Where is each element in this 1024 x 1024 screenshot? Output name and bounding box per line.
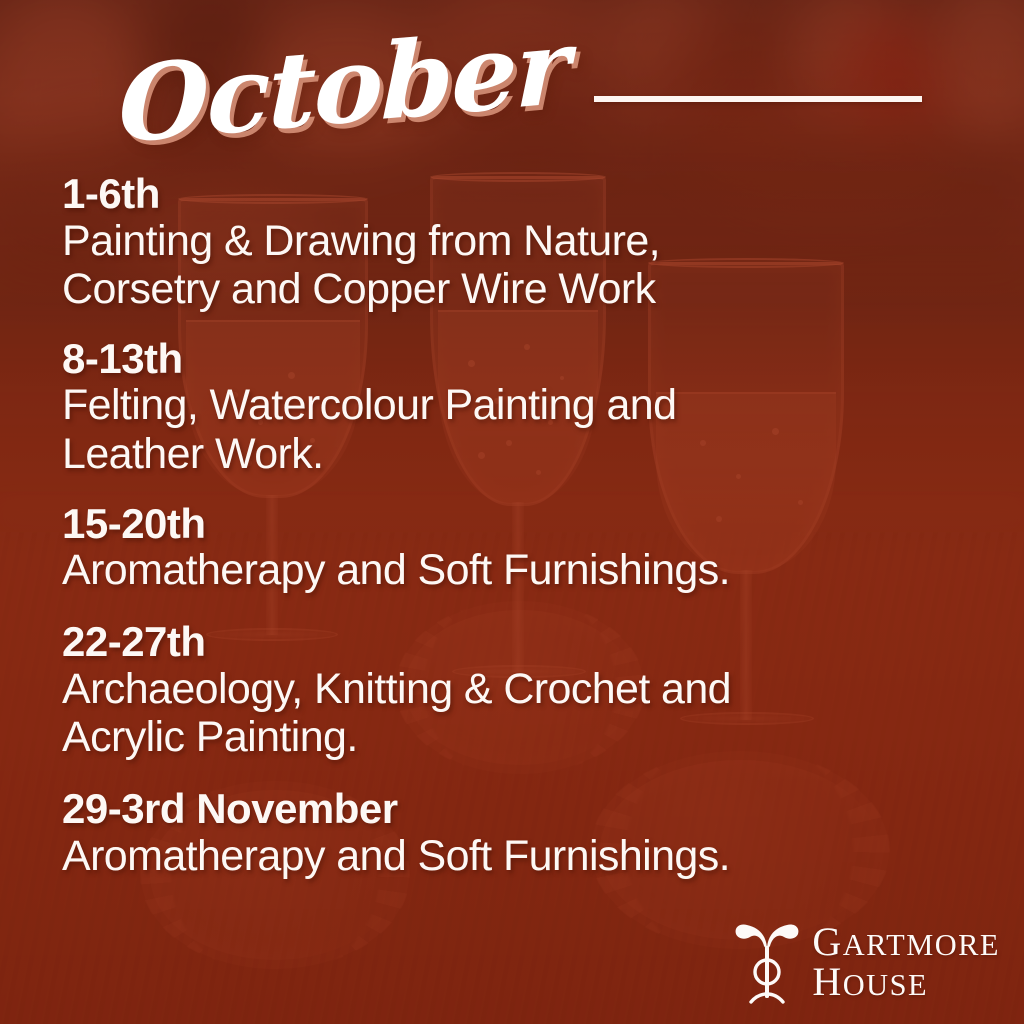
title-divider-rule [594,96,922,102]
entry-description: Aromatherapy and Soft Furnishings. [62,832,962,880]
entry-description: Painting & Drawing from Nature, Corsetry… [62,217,962,313]
entry-date: 15-20th [62,502,962,547]
entry-date: 8-13th [62,337,962,382]
gartmore-house-logo[interactable]: GARTMORE HOUSE [734,916,1000,1008]
logo-line-house: HOUSE [812,962,1000,1002]
logo-wordmark: GARTMORE HOUSE [812,922,1000,1002]
list-item: 22-27th Archaeology, Knitting & Crochet … [62,620,962,761]
gartmore-tree-monogram-icon [734,916,800,1008]
entry-date: 29-3rd November [62,787,962,832]
entry-description: Aromatherapy and Soft Furnishings. [62,546,962,594]
entry-date: 22-27th [62,620,962,665]
entry-date: 1-6th [62,172,962,217]
page-title: October [118,14,569,158]
poster-canvas: October 1-6th Painting & Drawing from Na… [0,0,1024,1024]
list-item: 1-6th Painting & Drawing from Nature, Co… [62,172,962,313]
list-item: 8-13th Felting, Watercolour Painting and… [62,337,962,478]
entry-description: Archaeology, Knitting & Crochet and Acry… [62,665,962,761]
list-item: 29-3rd November Aromatherapy and Soft Fu… [62,787,962,880]
list-item: 15-20th Aromatherapy and Soft Furnishing… [62,502,962,595]
poster-content: October 1-6th Painting & Drawing from Na… [0,0,1024,1024]
logo-line-gartmore: GARTMORE [812,922,1000,962]
entry-description: Felting, Watercolour Painting and Leathe… [62,381,962,477]
schedule-list: 1-6th Painting & Drawing from Nature, Co… [62,172,962,880]
